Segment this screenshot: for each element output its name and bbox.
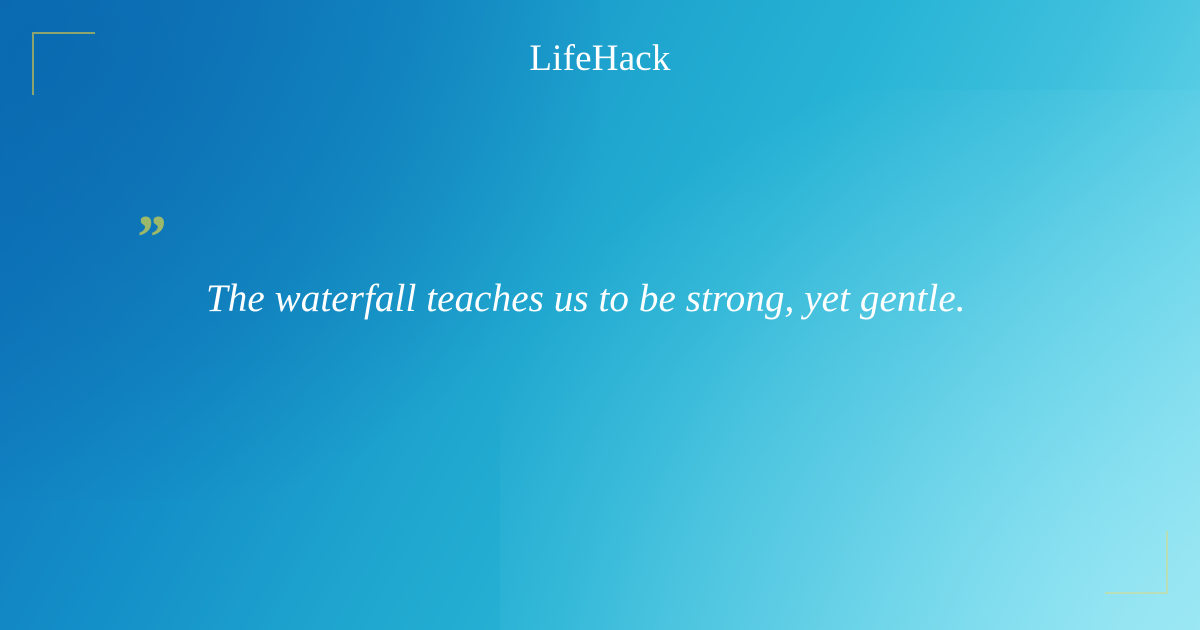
quote-card: LifeHack ” The waterfall teaches us to b… bbox=[0, 0, 1200, 630]
corner-bracket-bottom-right-icon bbox=[1105, 531, 1168, 594]
brand-name: LifeHack bbox=[529, 40, 670, 77]
quote-text: The waterfall teaches us to be strong, y… bbox=[206, 276, 1072, 322]
quote-mark-icon: ” bbox=[134, 216, 1072, 260]
quote-block: ” The waterfall teaches us to be strong,… bbox=[132, 216, 1072, 322]
brand-logo: LifeHack bbox=[0, 40, 1200, 77]
